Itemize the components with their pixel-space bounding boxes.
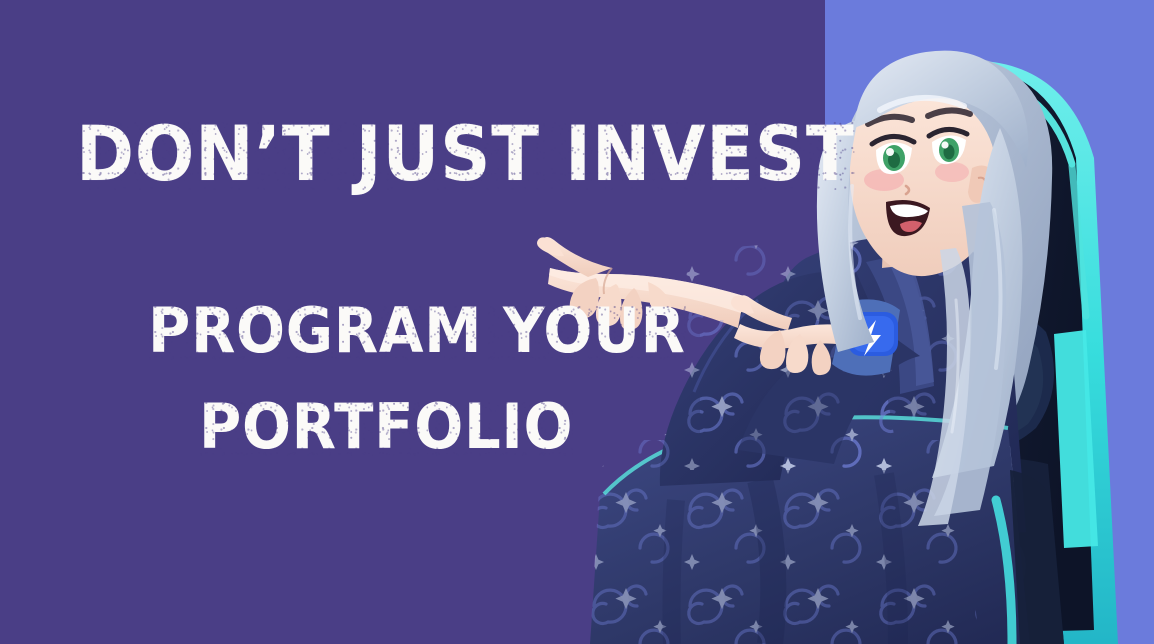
- poster-canvas: DON’T JUST INVEST PROGRAM YOUR PORTFOLIO: [0, 0, 1154, 644]
- character-illustration: [0, 0, 1154, 644]
